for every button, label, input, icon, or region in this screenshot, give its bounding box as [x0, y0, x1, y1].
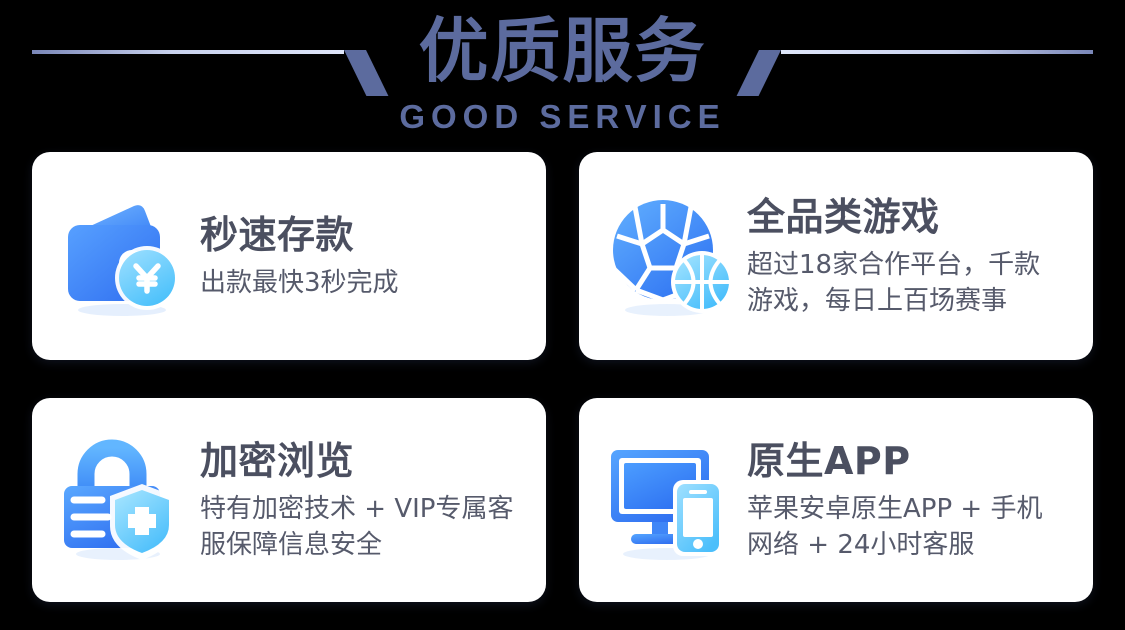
- card-description: 苹果安卓原生APP + 手机 网络 + 24小时客服: [747, 491, 1079, 563]
- card-description-line: 苹果安卓原生APP + 手机: [747, 491, 1079, 527]
- service-card-text: 原生APP 苹果安卓原生APP + 手机 网络 + 24小时客服: [733, 438, 1079, 563]
- service-card-native-app[interactable]: 原生APP 苹果安卓原生APP + 手机 网络 + 24小时客服: [579, 398, 1093, 602]
- card-description: 出款最快3秒完成: [200, 265, 532, 301]
- lock-shield-icon: [58, 436, 186, 564]
- page-header: 优质服务 GOOD SERVICE: [0, 0, 1125, 150]
- service-card-deposit[interactable]: 秒速存款 出款最快3秒完成: [32, 152, 546, 360]
- card-description-line: 出款最快3秒完成: [200, 265, 532, 301]
- card-title: 加密浏览: [200, 438, 532, 484]
- header-rule-right: [781, 50, 1093, 54]
- card-description-line: 特有加密技术 + VIP专属客: [200, 491, 532, 527]
- card-description-line: 网络 + 24小时客服: [747, 527, 1079, 563]
- service-card-text: 加密浏览 特有加密技术 + VIP专属客 服保障信息安全: [186, 438, 532, 563]
- card-description: 超过18家合作平台，千款 游戏，每日上百场赛事: [747, 247, 1079, 319]
- service-card-grid: 秒速存款 出款最快3秒完成: [32, 152, 1093, 602]
- card-description-line: 服保障信息安全: [200, 527, 532, 563]
- soccer-basketball-icon: [605, 192, 733, 320]
- service-card-encryption[interactable]: 加密浏览 特有加密技术 + VIP专属客 服保障信息安全: [32, 398, 546, 602]
- card-title: 秒速存款: [200, 212, 532, 258]
- card-title: 原生APP: [747, 438, 1079, 484]
- card-description: 特有加密技术 + VIP专属客 服保障信息安全: [200, 491, 532, 563]
- monitor-phone-icon: [605, 436, 733, 564]
- card-description-line: 游戏，每日上百场赛事: [747, 283, 1079, 319]
- wallet-coin-icon: [58, 192, 186, 320]
- page-subtitle: GOOD SERVICE: [0, 98, 1125, 136]
- service-card-text: 全品类游戏 超过18家合作平台，千款 游戏，每日上百场赛事: [733, 194, 1079, 319]
- card-title: 全品类游戏: [747, 194, 1079, 240]
- card-description-line: 超过18家合作平台，千款: [747, 247, 1079, 283]
- service-card-games[interactable]: 全品类游戏 超过18家合作平台，千款 游戏，每日上百场赛事: [579, 152, 1093, 360]
- service-card-text: 秒速存款 出款最快3秒完成: [186, 212, 532, 301]
